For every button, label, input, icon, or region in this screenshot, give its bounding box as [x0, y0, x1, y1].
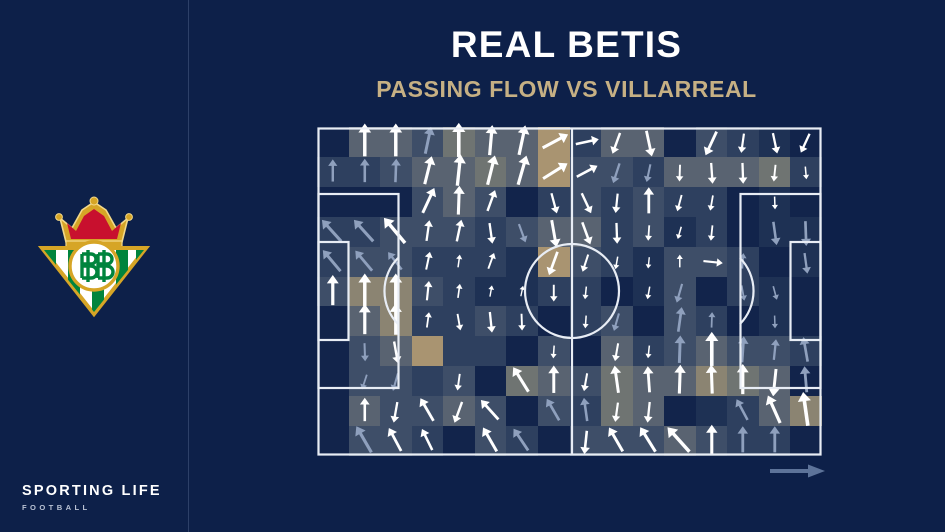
pass-flow-arrow-icon: [633, 336, 665, 366]
passing-flow-pitch: [317, 127, 822, 456]
heatmap-cell: [759, 277, 791, 307]
pass-flow-arrow-icon: [349, 217, 381, 247]
pass-flow-arrow-icon: [633, 127, 665, 157]
heatmap-cell: [475, 217, 507, 247]
pass-flow-arrow-icon: [790, 217, 822, 247]
heatmap-cell: [349, 187, 381, 217]
pass-flow-arrow-icon: [633, 187, 665, 217]
heatmap-cell: [317, 366, 349, 396]
heatmap-cell: [538, 426, 570, 456]
heatmap-cell: [317, 127, 349, 157]
heatmap-cell: [696, 157, 728, 187]
heatmap-cell: [349, 366, 381, 396]
heatmap-cell: [443, 157, 475, 187]
attacking-direction-arrow-icon: [770, 464, 825, 478]
pass-flow-arrow-icon: [412, 396, 444, 426]
pass-flow-arrow-icon: [727, 247, 759, 277]
pass-flow-arrow-icon: [538, 217, 570, 247]
heatmap-cell: [317, 157, 349, 187]
heatmap-cell: [570, 426, 602, 456]
heatmap-cell: [696, 277, 728, 307]
pass-flow-arrow-icon: [727, 396, 759, 426]
pass-flow-arrow-icon: [380, 157, 412, 187]
pass-flow-arrow-icon: [790, 366, 822, 396]
pass-flow-arrow-icon: [443, 277, 475, 307]
heatmap-cell: [759, 187, 791, 217]
pass-flow-arrow-icon: [475, 396, 507, 426]
pass-flow-arrow-icon: [790, 127, 822, 157]
pass-flow-arrow-icon: [443, 306, 475, 336]
heatmap-cell: [475, 187, 507, 217]
pass-flow-arrow-icon: [696, 187, 728, 217]
heatmap-cell: [380, 277, 412, 307]
heatmap-cell: [727, 336, 759, 366]
pass-flow-arrow-icon: [601, 187, 633, 217]
pass-flow-arrow-icon: [475, 306, 507, 336]
pass-flow-arrow-icon: [696, 157, 728, 187]
pass-flow-arrow-icon: [696, 366, 728, 396]
heatmap-cell: [443, 366, 475, 396]
pass-flow-arrow-icon: [412, 306, 444, 336]
pass-flow-arrow-icon: [727, 366, 759, 396]
heatmap-cell: [601, 336, 633, 366]
heatmap-cell: [727, 396, 759, 426]
pass-flow-arrow-icon: [380, 217, 412, 247]
heatmap-cell: [380, 366, 412, 396]
heatmap-cell: [570, 396, 602, 426]
pass-flow-arrow-icon: [412, 217, 444, 247]
heatmap-cell: [601, 157, 633, 187]
pass-flow-arrow-icon: [790, 157, 822, 187]
pass-flow-arrow-icon: [349, 127, 381, 157]
heatmap-cell: [412, 366, 444, 396]
pass-flow-arrow-icon: [443, 247, 475, 277]
pass-flow-arrow-icon: [443, 217, 475, 247]
heatmap-cell: [412, 306, 444, 336]
heatmap-cell: [664, 366, 696, 396]
pass-flow-arrow-icon: [570, 127, 602, 157]
heatmap-cell: [664, 127, 696, 157]
heatmap-cell: [759, 247, 791, 277]
heatmap-cell: [696, 396, 728, 426]
heatmap-cell: [349, 426, 381, 456]
heatmap-cell: [475, 426, 507, 456]
branding-rail: SPORTING LIFE FOOTBALL: [0, 0, 188, 532]
heatmap-cell: [443, 217, 475, 247]
pass-flow-arrow-icon: [759, 426, 791, 456]
pass-flow-arrow-icon: [570, 277, 602, 307]
heatmap-cell: [790, 187, 822, 217]
heatmap-cell: [475, 336, 507, 366]
pass-flow-arrow-icon: [759, 396, 791, 426]
heatmap-cell: [601, 187, 633, 217]
heatmap-cell: [412, 187, 444, 217]
heatmap-cell: [664, 247, 696, 277]
pass-flow-arrow-icon: [538, 187, 570, 217]
heatmap-cell: [727, 366, 759, 396]
heatmap-cell: [633, 336, 665, 366]
pass-flow-arrow-icon: [696, 336, 728, 366]
pass-flow-arrow-icon: [349, 336, 381, 366]
heatmap-cell: [790, 247, 822, 277]
pass-flow-arrow-icon: [696, 127, 728, 157]
pass-flow-arrow-icon: [506, 306, 538, 336]
sporting-life-logo: SPORTING LIFE FOOTBALL: [22, 484, 182, 511]
heatmap-cell: [538, 396, 570, 426]
pass-flow-arrow-icon: [696, 247, 728, 277]
heatmap-cell: [443, 187, 475, 217]
heatmap-cell: [506, 277, 538, 307]
pass-flow-arrow-icon: [759, 306, 791, 336]
heatmap-cell: [601, 277, 633, 307]
heatmap-cell: [601, 366, 633, 396]
heatmap-cell: [727, 217, 759, 247]
heatmap-cell: [380, 247, 412, 277]
heatmap-cell: [380, 426, 412, 456]
pass-flow-arrow-icon: [727, 127, 759, 157]
heatmap-cell: [759, 366, 791, 396]
pass-flow-arrow-icon: [696, 217, 728, 247]
heatmap-cell: [727, 157, 759, 187]
pass-flow-arrow-icon: [759, 366, 791, 396]
heatmap-cell: [506, 127, 538, 157]
heatmap-cell: [349, 306, 381, 336]
heatmap-cell: [633, 306, 665, 336]
pass-flow-arrow-icon: [412, 247, 444, 277]
heatmap-cell: [349, 247, 381, 277]
heatmap-cell: [727, 247, 759, 277]
heatmap-cell: [506, 247, 538, 277]
pass-flow-arrow-icon: [664, 157, 696, 187]
heatmap-cell: [506, 336, 538, 366]
pass-flow-arrow-icon: [664, 187, 696, 217]
heatmap-cell: [538, 247, 570, 277]
pass-flow-arrow-icon: [570, 396, 602, 426]
pass-flow-arrow-icon: [664, 306, 696, 336]
pass-flow-arrow-icon: [475, 277, 507, 307]
heatmap-cell: [317, 247, 349, 277]
pass-flow-arrow-icon: [475, 157, 507, 187]
heatmap-cell: [664, 396, 696, 426]
heatmap-cell: [601, 127, 633, 157]
pass-flow-arrow-icon: [349, 396, 381, 426]
heatmap-cell: [380, 187, 412, 217]
pass-flow-arrow-icon: [759, 217, 791, 247]
pass-flow-arrow-icon: [349, 157, 381, 187]
pass-flow-arrow-icon: [570, 157, 602, 187]
pass-flow-arrow-icon: [570, 366, 602, 396]
heatmap-cell: [506, 217, 538, 247]
heatmap-cell: [443, 426, 475, 456]
heatmap-cell: [506, 396, 538, 426]
pass-flow-arrow-icon: [696, 426, 728, 456]
pass-flow-arrow-icon: [317, 247, 349, 277]
heatmap-cell: [601, 217, 633, 247]
pass-flow-arrow-icon: [727, 157, 759, 187]
pass-flow-arrow-icon: [664, 366, 696, 396]
heatmap-cell: [443, 396, 475, 426]
pass-flow-arrow-icon: [475, 247, 507, 277]
heatmap-cell: [633, 247, 665, 277]
real-betis-crest: [36, 196, 152, 320]
heatmap-cell: [696, 306, 728, 336]
heatmap-cell: [790, 217, 822, 247]
heatmap-cell: [317, 217, 349, 247]
pass-flow-arrow-icon: [633, 396, 665, 426]
heatmap-cell: [317, 187, 349, 217]
heatmap-cell: [664, 426, 696, 456]
pass-flow-arrow-icon: [759, 127, 791, 157]
heatmap-cell: [443, 127, 475, 157]
heatmap-cell: [412, 426, 444, 456]
pass-flow-arrow-icon: [570, 217, 602, 247]
heatmap-cell: [633, 396, 665, 426]
heatmap-cell: [349, 127, 381, 157]
heatmap-cell: [443, 306, 475, 336]
pass-flow-arrow-icon: [538, 277, 570, 307]
heatmap-cell: [633, 127, 665, 157]
heatmap-cell: [380, 336, 412, 366]
heatmap-cell: [570, 247, 602, 277]
heatmap-cell: [349, 217, 381, 247]
brand-name: SPORTING LIFE: [22, 484, 182, 499]
pass-flow-arrow-icon: [412, 277, 444, 307]
heatmap-cell: [696, 366, 728, 396]
heatmap-cell: [570, 336, 602, 366]
heatmap-cell: [601, 396, 633, 426]
pass-flow-arrow-icon: [601, 366, 633, 396]
heatmap-cell: [475, 247, 507, 277]
pass-flow-arrow-icon: [601, 217, 633, 247]
pass-flow-arrow-icon: [506, 157, 538, 187]
heatmap-cell: [349, 157, 381, 187]
heatmap-cell: [475, 366, 507, 396]
pass-flow-arrow-icon: [601, 157, 633, 187]
heatmap-cell: [506, 426, 538, 456]
heatmap-cell: [538, 127, 570, 157]
pass-flow-arrow-icon: [570, 306, 602, 336]
page-subtitle: PASSING FLOW VS VILLARREAL: [188, 78, 945, 101]
page-title: REAL BETIS: [188, 26, 945, 63]
heatmap-cell: [475, 306, 507, 336]
pass-flow-arrow-icon: [601, 306, 633, 336]
heatmap-cell: [380, 157, 412, 187]
heatmap-cell: [349, 396, 381, 426]
pass-flow-arrow-icon: [633, 157, 665, 187]
pass-flow-arrow-icon: [790, 336, 822, 366]
heatmap-cell: [412, 277, 444, 307]
heatmap-cell: [475, 396, 507, 426]
heatmap-cell: [696, 217, 728, 247]
pass-flow-arrow-icon: [538, 127, 570, 157]
pass-flow-arrow-icon: [475, 217, 507, 247]
heatmap-cell: [570, 366, 602, 396]
pass-flow-arrow-icon: [349, 366, 381, 396]
pass-flow-arrow-icon: [380, 277, 412, 307]
heatmap-cell: [538, 217, 570, 247]
pass-flow-arrow-icon: [570, 187, 602, 217]
pass-flow-arrow-icon: [380, 247, 412, 277]
pass-flow-arrow-icon: [317, 217, 349, 247]
pass-flow-arrow-icon: [412, 187, 444, 217]
heatmap-cell: [570, 277, 602, 307]
heatmap-cell: [696, 247, 728, 277]
pass-flow-arrow-icon: [633, 217, 665, 247]
pass-flow-arrow-icon: [412, 426, 444, 456]
heatmap-cell: [506, 306, 538, 336]
heatmap-cell: [727, 187, 759, 217]
heatmap-cell: [412, 157, 444, 187]
heatmap-cell: [601, 426, 633, 456]
heatmap-cell: [506, 157, 538, 187]
pass-flow-arrow-icon: [633, 247, 665, 277]
pass-flow-arrow-icon: [349, 306, 381, 336]
pass-flow-arrow-icon: [759, 157, 791, 187]
heatmap-cell: [380, 396, 412, 426]
pass-flow-arrow-icon: [380, 336, 412, 366]
heatmap-cell: [570, 306, 602, 336]
heatmap-cell: [538, 336, 570, 366]
heatmap-cell: [412, 336, 444, 366]
heatmap-cell: [759, 426, 791, 456]
pass-flow-arrow-icon: [696, 306, 728, 336]
pass-flow-arrow-icon: [570, 247, 602, 277]
heatmap-cell: [759, 336, 791, 366]
pass-flow-arrow-icon: [475, 426, 507, 456]
heatmap-cell: [790, 306, 822, 336]
heatmap-cell: [443, 336, 475, 366]
heatmap-cell: [412, 217, 444, 247]
pass-flow-arrow-icon: [506, 366, 538, 396]
heatmap-cell: [570, 187, 602, 217]
heatmap-cell: [380, 127, 412, 157]
heatmap-cell: [412, 247, 444, 277]
heatmap-cell: [664, 277, 696, 307]
pass-flow-arrow-icon: [633, 366, 665, 396]
heatmap-cell: [538, 157, 570, 187]
heatmap-cell: [633, 277, 665, 307]
heatmap-cell: [633, 366, 665, 396]
pass-flow-arrow-icon: [570, 426, 602, 456]
pass-flow-arrow-icon: [727, 426, 759, 456]
heatmap-cell: [727, 426, 759, 456]
heatmap-cell: [759, 396, 791, 426]
pass-flow-arrow-icon: [443, 396, 475, 426]
pass-flow-arrow-icon: [664, 426, 696, 456]
heatmap-cell: [475, 157, 507, 187]
pass-flow-arrow-icon: [633, 426, 665, 456]
pass-flow-arrow-icon: [538, 157, 570, 187]
pass-flow-arrow-icon: [538, 247, 570, 277]
heatmap-cell: [790, 366, 822, 396]
pass-flow-arrow-icon: [790, 247, 822, 277]
pass-flow-arrow-icon: [601, 336, 633, 366]
heatmap-cell: [790, 336, 822, 366]
pass-flow-arrow-icon: [538, 396, 570, 426]
pass-flow-arrow-icon: [443, 187, 475, 217]
heatmap-cell: [317, 426, 349, 456]
heatmap-cell: [475, 277, 507, 307]
pass-flow-arrow-icon: [380, 127, 412, 157]
infographic-canvas: SPORTING LIFE FOOTBALL REAL BETIS PASSIN…: [0, 0, 945, 532]
pass-flow-arrow-icon: [506, 277, 538, 307]
pass-flow-arrow-icon: [475, 187, 507, 217]
heatmap-cell: [664, 217, 696, 247]
pass-flow-arrow-icon: [475, 127, 507, 157]
heatmap-cell: [696, 426, 728, 456]
pass-flow-arrow-icon: [443, 157, 475, 187]
pass-flow-arrow-icon: [633, 277, 665, 307]
pass-flow-arrow-icon: [349, 426, 381, 456]
pass-flow-arrow-icon: [601, 127, 633, 157]
pass-flow-arrow-icon: [538, 366, 570, 396]
heatmap-cell: [633, 426, 665, 456]
heatmap-cell: [380, 306, 412, 336]
pass-flow-arrow-icon: [664, 277, 696, 307]
heatmap-cell: [759, 217, 791, 247]
heatmap-cell: [570, 157, 602, 187]
pass-flow-arrow-icon: [317, 157, 349, 187]
pass-flow-arrow-icon: [412, 157, 444, 187]
heatmap-cell: [790, 277, 822, 307]
heatmap-cell: [759, 157, 791, 187]
pass-flow-arrow-icon: [538, 336, 570, 366]
heatmap-cell: [790, 426, 822, 456]
heatmap-cell: [601, 306, 633, 336]
heatmap-cell: [443, 277, 475, 307]
heatmap-cell: [759, 306, 791, 336]
heatmap-cell: [664, 306, 696, 336]
pass-flow-arrow-icon: [601, 247, 633, 277]
pass-flow-arrow-icon: [664, 247, 696, 277]
pass-flow-arrow-icon: [443, 366, 475, 396]
heatmap-cell: [790, 396, 822, 426]
heatmap-cell: [317, 306, 349, 336]
heatmap-cell: [633, 157, 665, 187]
pass-flow-arrow-icon: [506, 217, 538, 247]
pass-flow-arrow-icon: [664, 336, 696, 366]
heatmap-cell: [633, 187, 665, 217]
pass-flow-heatmap-cells: [317, 127, 822, 456]
heatmap-cell: [317, 336, 349, 366]
heatmap-cell: [538, 366, 570, 396]
pass-flow-arrow-icon: [664, 217, 696, 247]
heatmap-cell: [349, 277, 381, 307]
pass-flow-arrow-icon: [506, 426, 538, 456]
pass-flow-arrow-icon: [601, 426, 633, 456]
pass-flow-arrow-icon: [790, 396, 822, 426]
heatmap-cell: [538, 277, 570, 307]
heatmap-cell: [570, 217, 602, 247]
heatmap-cell: [601, 247, 633, 277]
heatmap-cell: [538, 306, 570, 336]
heatmap-cell: [412, 396, 444, 426]
pass-flow-arrow-icon: [412, 127, 444, 157]
heatmap-cell: [696, 336, 728, 366]
heatmap-cell: [633, 217, 665, 247]
pass-flow-arrow-icon: [759, 277, 791, 307]
heatmap-cell: [506, 187, 538, 217]
heatmap-cell: [664, 336, 696, 366]
heatmap-cell: [727, 306, 759, 336]
heatmap-cell: [475, 127, 507, 157]
pass-flow-arrow-icon: [317, 277, 349, 307]
pass-flow-arrow-icon: [380, 306, 412, 336]
pass-flow-arrow-icon: [349, 277, 381, 307]
pass-flow-arrow-icon: [759, 187, 791, 217]
heatmap-cell: [317, 396, 349, 426]
heatmap-cell: [790, 157, 822, 187]
